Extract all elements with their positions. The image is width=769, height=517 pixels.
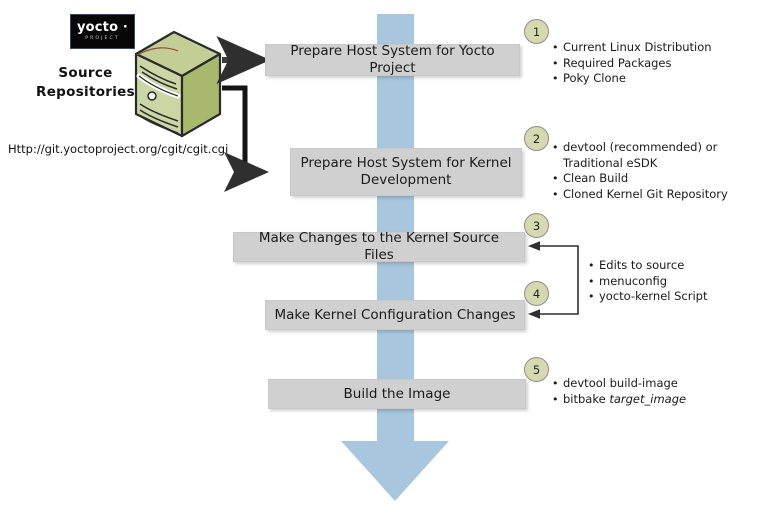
list-item: Cloned Kernel Git Repository (552, 187, 764, 203)
bullet-list-step-2: devtool (recommended) or Traditional eSD… (552, 140, 764, 202)
bullet-list-steps-3-4: Edits to source menuconfig yocto-kernel … (588, 258, 764, 305)
list-item: menuconfig (588, 274, 764, 290)
step-number-2: 2 (524, 126, 549, 151)
list-item: devtool build-image (552, 376, 764, 392)
process-box-step-2[interactable]: Prepare Host System for Kernel Developme… (290, 148, 522, 196)
list-item: devtool (recommended) or Traditional eSD… (552, 140, 764, 171)
list-item: Required Packages (552, 56, 764, 72)
process-box-step-3[interactable]: Make Changes to the Kernel Source Files (233, 232, 525, 262)
bullet-list-step-5: devtool build-image bitbake target_image (552, 376, 764, 407)
step-number-1: 1 (524, 19, 549, 44)
process-box-step-4[interactable]: Make Kernel Configuration Changes (265, 300, 525, 330)
list-item: Current Linux Distribution (552, 40, 764, 56)
list-item-text: bitbake (563, 392, 609, 406)
yocto-logo: yocto · PROJECT (70, 14, 135, 49)
source-repository-url: Http://git.yoctoproject.org/cgit/cgit.cg… (8, 142, 228, 156)
flow-arrow-head (341, 441, 449, 501)
bullet-list-step-1: Current Linux Distribution Required Pack… (552, 40, 764, 87)
diagram-canvas: yocto · PROJECT Source Repositories Http… (0, 0, 769, 517)
process-box-step-5[interactable]: Build the Image (268, 379, 526, 409)
step-number-4: 4 (524, 281, 549, 306)
list-item: Clean Build (552, 171, 764, 187)
step-number-5: 5 (524, 357, 549, 382)
list-item: bitbake target_image (552, 392, 764, 408)
list-item-emphasis: target_image (609, 392, 686, 406)
list-item: Poky Clone (552, 71, 764, 87)
process-box-step-1[interactable]: Prepare Host System for Yocto Project (265, 44, 520, 76)
yocto-logo-subtext: PROJECT (85, 35, 120, 42)
server-icon (130, 28, 226, 140)
list-item: Edits to source (588, 258, 764, 274)
step-number-3: 3 (524, 213, 549, 238)
list-item: yocto-kernel Script (588, 289, 764, 305)
yocto-logo-wordmark: yocto · (77, 21, 128, 34)
